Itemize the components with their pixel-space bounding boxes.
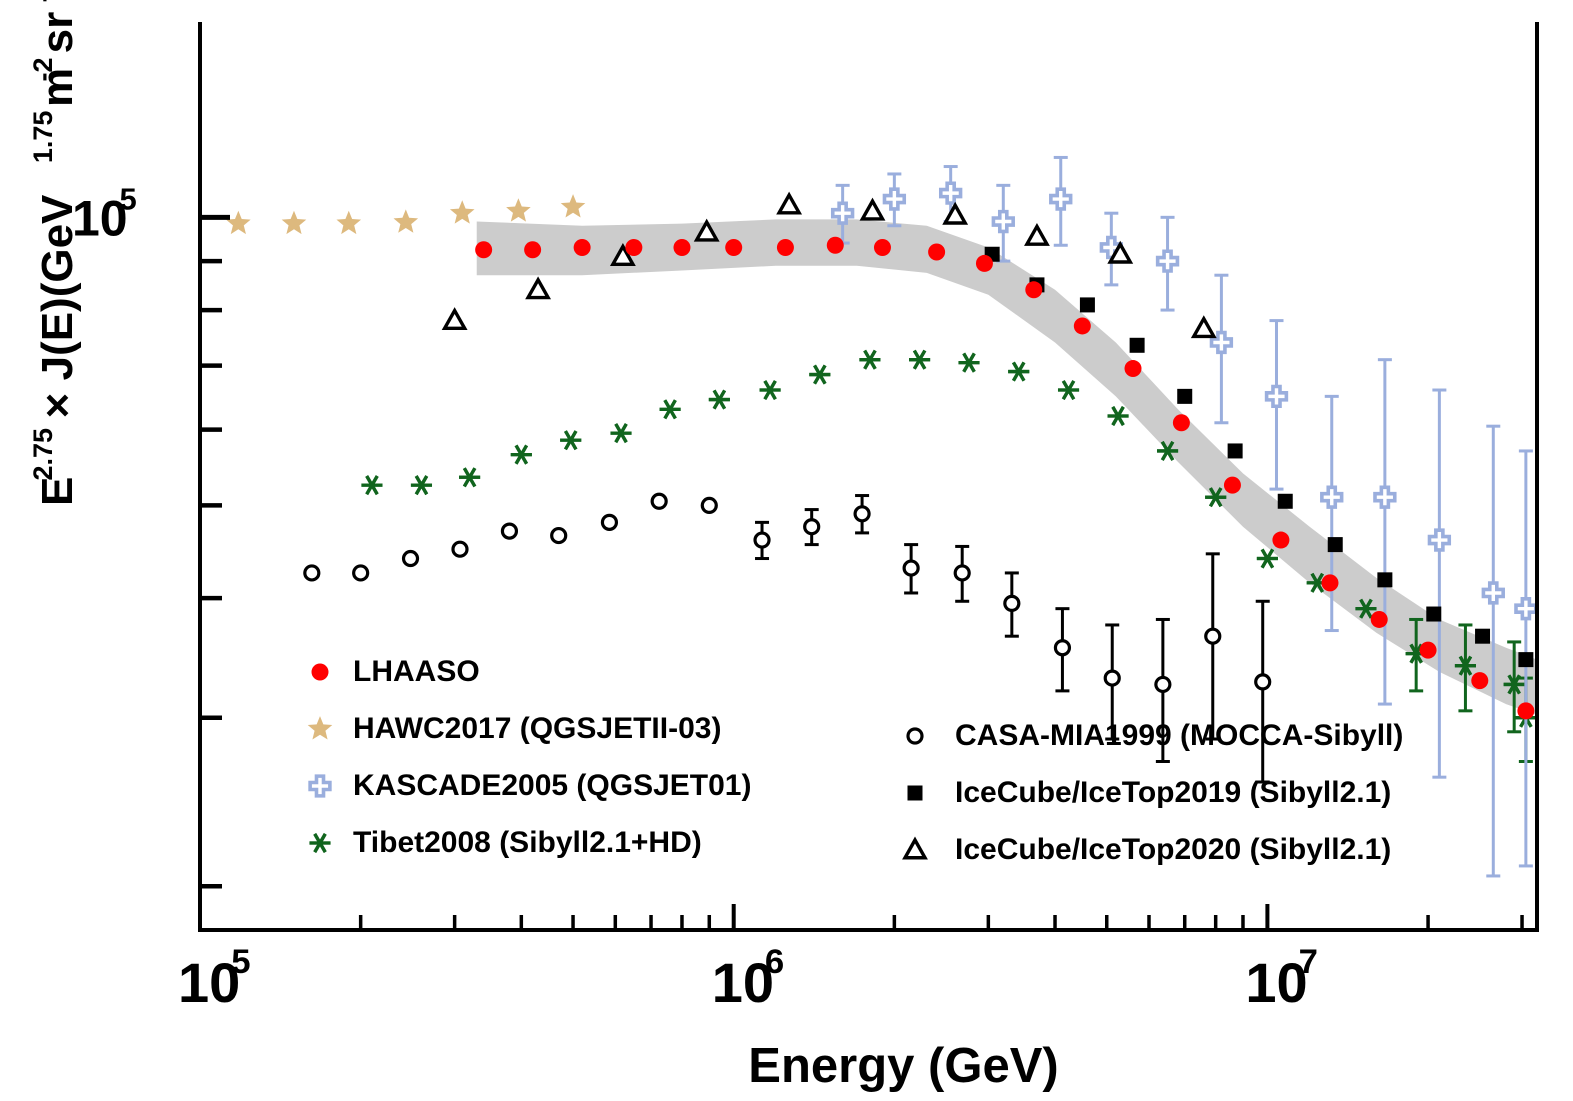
marker-square-filled (908, 786, 923, 801)
marker-square-filled (1080, 297, 1095, 312)
marker-triangle-open (445, 311, 465, 329)
marker-square-filled (1130, 338, 1145, 353)
marker-cross-plus (993, 212, 1013, 232)
legend-label: HAWC2017 (QGSJETII-03) (353, 712, 721, 745)
figure-root: 105106107105Energy (GeV)E2.75× J(E)(GeV1… (0, 0, 1573, 1101)
marker-triangle-open (528, 280, 548, 298)
circle-filled-icon (874, 239, 891, 256)
marker-circle-filled (874, 239, 891, 256)
circle-open-icon (908, 729, 922, 743)
marker-square-filled (1177, 389, 1192, 404)
marker-circle-open (702, 498, 716, 512)
marker-circle-open (1156, 677, 1170, 691)
marker-cross-plus (1267, 386, 1287, 406)
marker-square-filled (1518, 652, 1533, 667)
marker-circle-filled (1371, 611, 1388, 628)
circle-open-icon (502, 524, 516, 538)
marker-circle-filled (976, 255, 993, 272)
tick-label-exponent: 5 (231, 943, 250, 981)
circle-open-icon (1005, 596, 1019, 610)
square-filled-icon (908, 786, 923, 801)
triangle-open-icon (779, 195, 799, 213)
tick-label-exponent: 7 (1299, 943, 1318, 981)
circle-open-icon (404, 552, 418, 566)
circle-open-icon (602, 515, 616, 529)
marker-asterisk (709, 390, 730, 408)
marker-circle-open (652, 494, 666, 508)
marker-cross-plus (884, 189, 904, 209)
square-filled-icon (1426, 607, 1441, 622)
marker-asterisk (1108, 407, 1129, 425)
circle-filled-icon (1074, 317, 1091, 334)
square-filled-icon (1475, 629, 1490, 644)
legend-left-entry[interactable]: HAWC2017 (QGSJETII-03) (308, 712, 722, 745)
triangle-open-icon (905, 840, 925, 858)
marker-star (282, 211, 307, 234)
uncertainty-band (477, 219, 1537, 715)
circle-open-icon (354, 566, 368, 580)
cross-plus-icon (993, 212, 1013, 232)
star-icon (282, 211, 307, 234)
triangle-open-icon (1194, 319, 1214, 337)
cross-plus-icon (1267, 386, 1287, 406)
circle-open-icon (805, 520, 819, 534)
marker-star (506, 198, 531, 221)
circle-filled-icon (1517, 702, 1534, 719)
star-icon (308, 716, 333, 739)
tick-label-exponent: 6 (765, 943, 784, 981)
cross-plus-icon (1322, 487, 1342, 507)
marker-circle-filled (1471, 672, 1488, 689)
square-filled-icon (1177, 389, 1192, 404)
marker-asterisk (909, 351, 930, 369)
marker-cross-plus (1322, 487, 1342, 507)
marker-cross-plus (1158, 251, 1178, 271)
cross-plus-icon (1158, 251, 1178, 271)
marker-asterisk (1008, 362, 1029, 380)
y-axis-title-part: 2.75 (28, 428, 58, 481)
circle-filled-icon (1125, 360, 1142, 377)
triangle-open-icon (862, 201, 882, 219)
marker-circle-open (955, 566, 969, 580)
marker-square-filled (1228, 443, 1243, 458)
marker-square-filled (1426, 607, 1441, 622)
circle-filled-icon (1272, 532, 1289, 549)
circle-open-icon (305, 566, 319, 580)
marker-circle-open (552, 529, 566, 543)
legend-label: CASA-MIA1999 (MOCCA-Sibyll) (955, 719, 1403, 752)
legend-label: IceCube/IceTop2019 (Sibyll2.1) (955, 776, 1391, 809)
circle-filled-icon (827, 237, 844, 254)
cross-plus-icon (1516, 599, 1536, 619)
marker-square-filled (1278, 494, 1293, 509)
circle-open-icon (1055, 641, 1069, 655)
circle-filled-icon (475, 241, 492, 258)
marker-circle-filled (827, 237, 844, 254)
marker-circle-open (755, 533, 769, 547)
marker-asterisk (809, 365, 830, 383)
circle-filled-icon (1173, 414, 1190, 431)
circle-open-icon (904, 561, 918, 575)
marker-asterisk (610, 424, 631, 442)
marker-circle-open (453, 542, 467, 556)
square-filled-icon (1278, 494, 1293, 509)
y-axis-title: E2.75× J(E)(GeV1.75m-2sr-1s-1) (28, 0, 82, 506)
star-icon (226, 211, 251, 234)
marker-circle-filled (312, 664, 329, 681)
marker-asterisk (411, 476, 432, 494)
marker-triangle-open (1194, 319, 1214, 337)
marker-circle-open (855, 507, 869, 521)
circle-open-icon (955, 566, 969, 580)
marker-star (308, 716, 333, 739)
marker-circle-filled (725, 239, 742, 256)
marker-circle-filled (524, 241, 541, 258)
marker-circle-filled (1420, 642, 1437, 659)
circle-filled-icon (312, 664, 329, 681)
circle-open-icon (702, 498, 716, 512)
marker-cross-plus (1051, 189, 1071, 209)
marker-triangle-open (779, 195, 799, 213)
marker-circle-filled (1025, 281, 1042, 298)
marker-circle-open (602, 515, 616, 529)
circle-filled-icon (1371, 611, 1388, 628)
marker-asterisk (859, 351, 880, 369)
marker-asterisk (958, 353, 979, 371)
circle-open-icon (1206, 629, 1220, 643)
marker-circle-open (1256, 675, 1270, 689)
cross-plus-icon (1429, 530, 1449, 550)
star-icon (394, 209, 419, 232)
circle-filled-icon (524, 241, 541, 258)
star-icon (450, 200, 475, 223)
marker-square-filled (1475, 629, 1490, 644)
marker-circle-open (805, 520, 819, 534)
legend-left-entry[interactable]: Tibet2008 (Sibyll2.1+HD) (309, 826, 701, 859)
triangle-open-icon (445, 311, 465, 329)
marker-cross-plus (1483, 583, 1503, 603)
marker-square-filled (1328, 537, 1343, 552)
circle-open-icon (552, 529, 566, 543)
y-axis-title-part: 1.75 (28, 111, 58, 164)
lhaaso-uncertainty-band (477, 219, 1537, 715)
x-tick-label: 106 (712, 943, 785, 1014)
circle-open-icon (1156, 677, 1170, 691)
y-axis-title-part: sr (33, 12, 82, 54)
marker-cross-plus (1375, 487, 1395, 507)
x-tick-label: 105 (178, 943, 251, 1014)
legend-left-entry[interactable]: KASCADE2005 (QGSJET01) (310, 769, 751, 802)
marker-circle-filled (928, 243, 945, 260)
circle-open-icon (855, 507, 869, 521)
marker-circle-open (502, 524, 516, 538)
circle-filled-icon (1025, 281, 1042, 298)
marker-cross-plus (1516, 599, 1536, 619)
marker-cross-plus (310, 776, 330, 796)
circle-filled-icon (1321, 574, 1338, 591)
square-filled-icon (1518, 652, 1533, 667)
tick-label-exponent: 5 (120, 181, 137, 216)
circle-filled-icon (777, 239, 794, 256)
marker-asterisk (511, 445, 532, 463)
marker-circle-open (904, 561, 918, 575)
circle-filled-icon (928, 243, 945, 260)
triangle-open-icon (528, 280, 548, 298)
marker-star (561, 194, 586, 217)
marker-triangle-open (862, 201, 882, 219)
marker-circle-open (305, 566, 319, 580)
marker-triangle-open (945, 205, 965, 223)
marker-asterisk (361, 476, 382, 494)
marker-circle-filled (1074, 317, 1091, 334)
marker-circle-filled (1272, 532, 1289, 549)
legend-label: Tibet2008 (Sibyll2.1+HD) (353, 826, 702, 859)
cross-plus-icon (884, 189, 904, 209)
circle-open-icon (453, 542, 467, 556)
marker-triangle-open (1027, 226, 1047, 244)
marker-circle-filled (1224, 477, 1241, 494)
marker-circle-filled (777, 239, 794, 256)
legend-left-entry[interactable]: LHAASO (312, 655, 480, 688)
square-filled-icon (1377, 572, 1392, 587)
marker-triangle-open (905, 840, 925, 858)
marker-asterisk (660, 400, 681, 418)
marker-square-filled (1377, 572, 1392, 587)
y-axis-title-part: -2 (28, 57, 58, 81)
square-filled-icon (1130, 338, 1145, 353)
x-tick-label: 107 (1245, 943, 1318, 1014)
y-axis-title-part: -1 (28, 0, 58, 2)
star-icon (506, 198, 531, 221)
marker-asterisk (760, 381, 781, 399)
cross-plus-icon (310, 776, 330, 796)
marker-circle-filled (673, 239, 690, 256)
circle-open-icon (755, 533, 769, 547)
y-axis-title-part: × J(E)(GeV (33, 194, 82, 418)
marker-star (394, 209, 419, 232)
marker-cross-plus (941, 183, 961, 203)
circle-open-icon (652, 494, 666, 508)
circle-filled-icon (1224, 477, 1241, 494)
marker-star (450, 200, 475, 223)
marker-circle-open (354, 566, 368, 580)
marker-asterisk (309, 834, 330, 852)
legend-right-entry[interactable]: IceCube/IceTop2019 (Sibyll2.1) (908, 776, 1392, 809)
cross-plus-icon (1483, 583, 1503, 603)
marker-circle-open (404, 552, 418, 566)
marker-circle-open (1206, 629, 1220, 643)
series-lhaaso (475, 237, 1534, 720)
circle-filled-icon (1420, 642, 1437, 659)
star-icon (336, 211, 361, 234)
legend-right-entry[interactable]: CASA-MIA1999 (MOCCA-Sibyll) (908, 719, 1403, 752)
marker-circle-filled (1517, 702, 1534, 719)
marker-circle-open (1005, 596, 1019, 610)
marker-circle-filled (1125, 360, 1142, 377)
triangle-open-icon (1027, 226, 1047, 244)
legend: LHAASOHAWC2017 (QGSJETII-03)KASCADE2005 … (308, 655, 1404, 866)
marker-circle-open (908, 729, 922, 743)
series-tibet2008-sibyll2-1-hd (361, 351, 1536, 762)
marker-circle-filled (574, 239, 591, 256)
circle-filled-icon (625, 239, 642, 256)
star-icon (561, 194, 586, 217)
marker-circle-open (1055, 641, 1069, 655)
marker-circle-filled (625, 239, 642, 256)
circle-open-icon (1105, 671, 1119, 685)
circle-filled-icon (574, 239, 591, 256)
x-axis-title: Energy (GeV) (748, 1039, 1058, 1093)
triangle-open-icon (945, 205, 965, 223)
circle-filled-icon (976, 255, 993, 272)
marker-circle-filled (1173, 414, 1190, 431)
marker-circle-open (1105, 671, 1119, 685)
legend-label: KASCADE2005 (QGSJET01) (353, 769, 751, 802)
circle-filled-icon (1471, 672, 1488, 689)
legend-right-entry[interactable]: IceCube/IceTop2020 (Sibyll2.1) (905, 833, 1391, 866)
cross-plus-icon (1375, 487, 1395, 507)
cosmic-ray-spectrum-chart: 105106107105Energy (GeV)E2.75× J(E)(GeV1… (0, 0, 1573, 1101)
circle-filled-icon (673, 239, 690, 256)
cross-plus-icon (1051, 189, 1071, 209)
circle-filled-icon (725, 239, 742, 256)
square-filled-icon (1228, 443, 1243, 458)
cross-plus-icon (941, 183, 961, 203)
marker-asterisk (1058, 381, 1079, 399)
legend-label: LHAASO (353, 655, 480, 688)
marker-cross-plus (1429, 530, 1449, 550)
square-filled-icon (1328, 537, 1343, 552)
marker-asterisk (560, 431, 581, 449)
marker-star (336, 211, 361, 234)
marker-circle-filled (1321, 574, 1338, 591)
marker-circle-filled (475, 241, 492, 258)
marker-star (226, 211, 251, 234)
legend-label: IceCube/IceTop2020 (Sibyll2.1) (955, 833, 1391, 866)
square-filled-icon (1080, 297, 1095, 312)
circle-open-icon (1256, 675, 1270, 689)
marker-asterisk (459, 468, 480, 486)
